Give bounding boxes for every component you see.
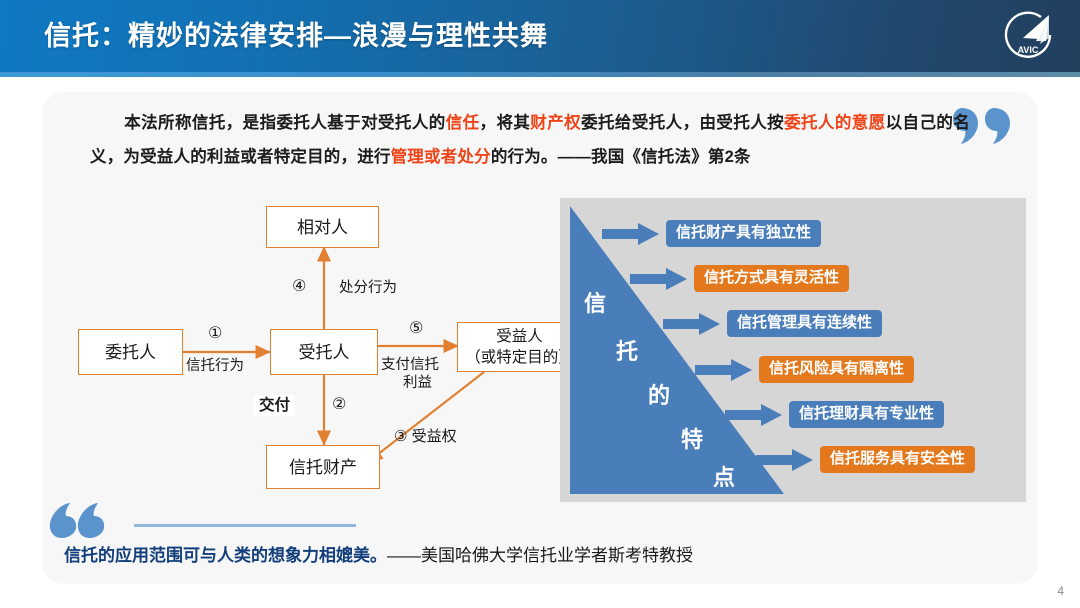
avic-logo-text: AVIC — [1018, 45, 1039, 55]
avic-logo-icon: AVIC — [1000, 8, 1056, 64]
flow-label-2-text: 交付 — [254, 395, 295, 416]
flow-box-beneficiary-label-1: 受益人 — [496, 326, 543, 347]
flow-box-beneficiary-label-2: （或特定目的） — [465, 347, 574, 368]
flow-box-trust-property[interactable]: 信托财产 — [266, 445, 380, 489]
flow-box-counterparty-label: 相对人 — [297, 217, 348, 238]
flow-label-5-text-1: 支付信托 — [381, 357, 439, 374]
triangle-char-4: 特 — [681, 422, 703, 454]
arrow-right-icon — [630, 267, 688, 291]
content-card: 本法所称信托，是指委托人基于对受托人的信任，将其财产权委托给受托人，由受托人按委… — [42, 92, 1038, 584]
arrow-right-icon — [663, 312, 721, 336]
page-number: 4 — [1057, 584, 1064, 598]
slide-header: 信托：精妙的法律安排—浪漫与理性共舞 AVIC — [0, 0, 1080, 72]
law-highlight-xinren: 信任 — [446, 114, 480, 132]
quote-divider — [134, 524, 356, 527]
triangle-char-3: 的 — [648, 378, 670, 410]
feature-label-1: 信托财产具有独立性 — [666, 220, 821, 247]
law-text-part-5: 的行为。——我国《信托法》第2条 — [491, 148, 751, 166]
trust-features-panel: 信 托 的 特 点 信托财产具有独立性 信托方式具有灵活性 信托管理具有连续性 — [560, 198, 1026, 502]
footer-quote-text: 信托的应用范围可与人类的想象力相媲美。 — [64, 546, 387, 565]
flow-label-5-text-2: 利益 — [403, 375, 432, 392]
law-text-part-3: 委托给受托人，由受托人按 — [581, 114, 784, 132]
feature-row-2[interactable]: 信托方式具有灵活性 — [630, 265, 849, 292]
flow-label-3: ③ 受益权 — [394, 428, 457, 445]
arrow-right-icon — [725, 403, 783, 427]
feature-label-4: 信托风险具有隔离性 — [759, 356, 914, 383]
page-title: 信托：精妙的法律安排—浪漫与理性共舞 — [44, 14, 548, 53]
feature-row-4[interactable]: 信托风险具有隔离性 — [695, 356, 914, 383]
law-highlight-guanli: 管理或者处分 — [391, 148, 491, 166]
law-highlight-caichanquan: 财产权 — [530, 114, 581, 132]
footer-quote: 信托的应用范围可与人类的想象力相媲美。——美国哈佛大学信托业学者斯考特教授 — [64, 544, 693, 568]
triangle-char-1: 信 — [584, 286, 606, 318]
law-highlight-yiyuan: 委托人的意愿 — [784, 114, 886, 132]
triangle-shape-icon — [570, 206, 784, 494]
law-text-part-1: 本法所称信托，是指委托人基于对受托人的 — [124, 114, 446, 132]
triangle-char-5: 点 — [713, 460, 735, 492]
flow-label-2-number: ② — [332, 396, 346, 413]
flow-box-trustee[interactable]: 受托人 — [270, 329, 378, 375]
triangle-char-2: 托 — [616, 334, 638, 366]
feature-label-2: 信托方式具有灵活性 — [694, 265, 849, 292]
feature-row-1[interactable]: 信托财产具有独立性 — [602, 220, 821, 247]
flow-box-settlor[interactable]: 委托人 — [78, 329, 183, 375]
arrow-right-icon — [695, 358, 753, 382]
flow-label-1-text: 信托行为 — [186, 358, 244, 375]
flow-box-trust-property-label: 信托财产 — [289, 457, 357, 478]
feature-row-3[interactable]: 信托管理具有连续性 — [663, 310, 882, 337]
quote-mark-open-icon — [48, 502, 108, 542]
feature-label-6: 信托服务具有安全性 — [820, 446, 975, 473]
feature-row-5[interactable]: 信托理财具有专业性 — [725, 401, 944, 428]
flow-label-4-number: ④ — [292, 278, 306, 295]
feature-row-6[interactable]: 信托服务具有安全性 — [756, 446, 975, 473]
feature-label-3: 信托管理具有连续性 — [727, 310, 882, 337]
flow-box-counterparty[interactable]: 相对人 — [266, 206, 379, 248]
footer-quote-source: ——美国哈佛大学信托业学者斯考特教授 — [387, 546, 693, 565]
flow-box-trustee-label: 受托人 — [299, 342, 350, 363]
law-text-part-2: ，将其 — [480, 114, 531, 132]
flow-label-4-text: 处分行为 — [339, 280, 397, 297]
arrow-right-icon — [602, 222, 660, 246]
flow-box-settlor-label: 委托人 — [105, 342, 156, 363]
header-underline — [0, 72, 1080, 77]
feature-label-5: 信托理财具有专业性 — [789, 401, 944, 428]
law-quote-paragraph: 本法所称信托，是指委托人基于对受托人的信任，将其财产权委托给受托人，由受托人按委… — [90, 106, 970, 174]
trust-flow-diagram: 相对人 委托人 受托人 受益人 （或特定目的） 信托财产 ① 信托行为 ② 交付… — [34, 200, 554, 512]
flow-label-1-number: ① — [208, 325, 222, 342]
flow-label-5-number: ⑤ — [409, 320, 423, 337]
arrow-right-icon — [756, 448, 814, 472]
